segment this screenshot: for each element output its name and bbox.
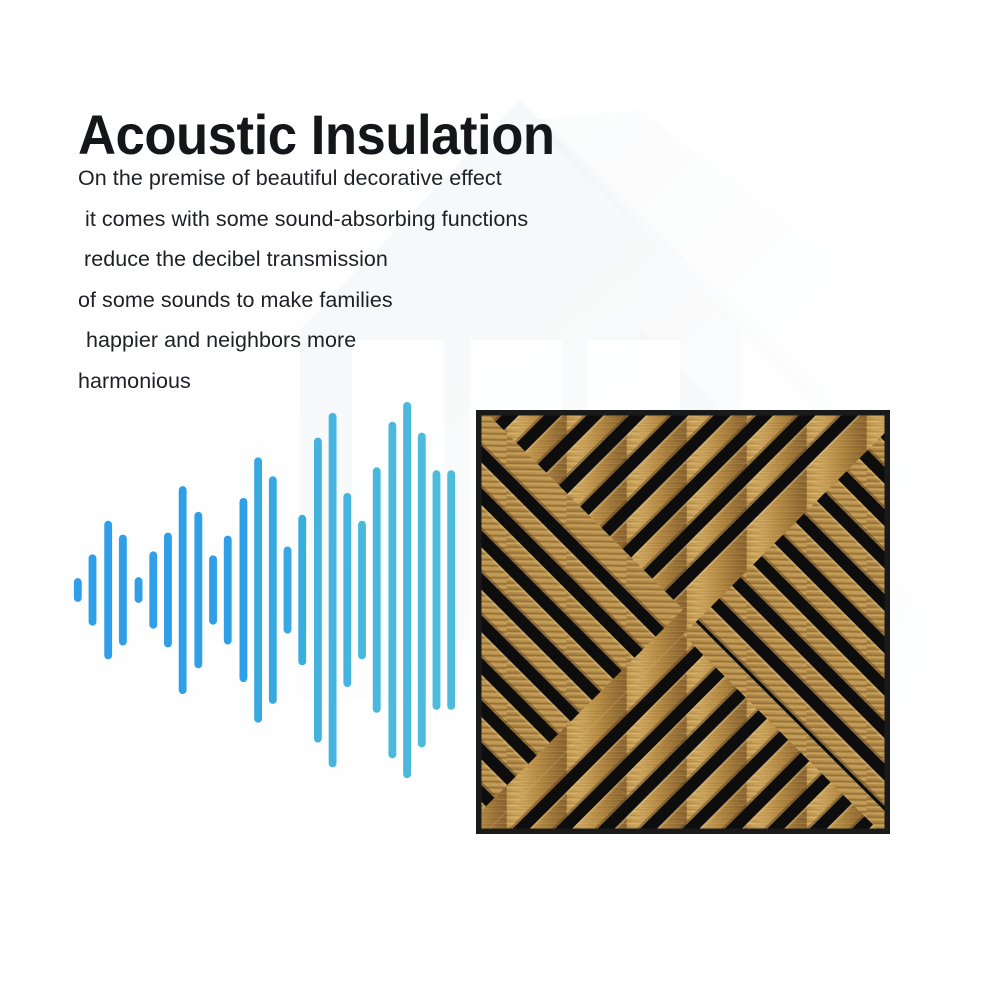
waveform-bar	[135, 577, 143, 603]
waveform-bar	[373, 467, 381, 713]
description-line-3: reduce the decibel transmission	[78, 239, 698, 280]
waveform-bar	[433, 470, 441, 710]
page-title: Acoustic Insulation	[78, 106, 555, 165]
waveform-bar	[388, 422, 396, 759]
description-line-1: On the premise of beautiful decorative e…	[78, 158, 698, 199]
waveform-bar	[209, 555, 217, 624]
waveform-bar	[358, 521, 366, 660]
description-line-2: it comes with some sound-absorbing funct…	[78, 199, 698, 240]
waveform-bar	[119, 535, 127, 646]
description-line-6: harmonious	[78, 361, 698, 402]
waveform-bar	[89, 554, 97, 625]
poster-canvas: Acoustic Insulation On the premise of be…	[0, 0, 1000, 1000]
waveform-bar	[314, 438, 322, 743]
waveform-bar	[329, 413, 337, 767]
waveform-bar	[298, 515, 306, 665]
waveform-bar	[254, 457, 262, 722]
waveform-bar	[104, 521, 112, 660]
waveform-bar	[269, 476, 277, 704]
waveform-bar	[149, 551, 157, 628]
wooden-acoustic-panel	[476, 410, 890, 834]
waveform-bar	[418, 433, 426, 748]
waveform-bar	[343, 493, 351, 687]
waveform-bar	[164, 533, 172, 648]
waveform-bar	[403, 402, 411, 778]
description-block: On the premise of beautiful decorative e…	[78, 158, 698, 401]
waveform-bar	[240, 498, 248, 682]
waveform-bar	[284, 546, 292, 633]
description-line-4: of some sounds to make families	[78, 280, 698, 321]
sound-wave-graphic	[68, 396, 460, 792]
description-line-5: happier and neighbors more	[78, 320, 698, 361]
waveform-bar	[224, 536, 232, 645]
waveform-bar	[179, 486, 187, 694]
waveform-bar	[447, 470, 455, 710]
waveform-bar	[74, 578, 82, 602]
waveform-bar	[194, 512, 202, 668]
